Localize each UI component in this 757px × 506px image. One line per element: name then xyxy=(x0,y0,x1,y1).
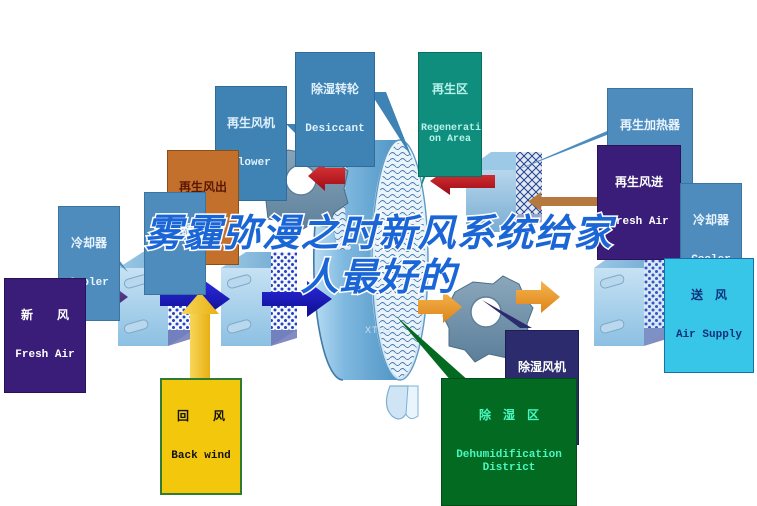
label-regeneration-area-cn: 再生区 xyxy=(421,83,479,96)
label-dehumidification-district-en: Dehumidification District xyxy=(444,449,574,474)
label-cooler-mid: 冷却器 xyxy=(144,192,206,295)
label-regen-fresh-air-in-en: Fresh Air xyxy=(600,216,678,228)
watermark-text: XTHJ xyxy=(365,325,392,335)
label-back-wind-cn: 回 风 xyxy=(164,410,238,423)
label-cooler-mid-cn: 冷却器 xyxy=(147,223,203,236)
label-regen-fresh-air-in: 再生风进 Fresh Air xyxy=(597,145,681,260)
label-regen-fresh-air-in-cn: 再生风进 xyxy=(600,176,678,189)
label-desiccant-rotor: 除湿转轮 Desiccant xyxy=(295,52,375,167)
label-regeneration-blower-cn: 再生风机 xyxy=(218,117,284,130)
label-back-wind: 回 风 Back wind xyxy=(160,378,242,495)
cooler-unit-right xyxy=(594,250,670,346)
label-dehumidify-blower-cn: 除湿风机 xyxy=(508,361,576,374)
label-regeneration-area-en: Regenerati on Area xyxy=(421,123,479,145)
label-regeneration-heater-cn: 再生加热器 xyxy=(610,119,690,132)
label-fresh-air-in-en: Fresh Air xyxy=(7,349,83,361)
label-cooler-left-cn: 冷却器 xyxy=(61,237,117,250)
label-cooler-right-cn: 冷却器 xyxy=(683,214,739,227)
label-fresh-air-in-cn: 新 风 xyxy=(7,309,83,322)
label-fresh-air-in: 新 风 Fresh Air xyxy=(4,278,86,393)
dehumidifier-airflow-diagram: XTHJ 除湿转轮 Desiccant 再生风机 Blower 再生区 Rege… xyxy=(0,0,757,488)
label-air-supply: 送 风 Air Supply xyxy=(664,258,754,373)
label-air-supply-cn: 送 风 xyxy=(667,289,751,302)
label-dehumidification-district-cn: 除 湿 区 xyxy=(444,409,574,422)
label-air-supply-en: Air Supply xyxy=(667,329,751,341)
label-back-wind-en: Back wind xyxy=(164,450,238,462)
label-regeneration-area: 再生区 Regenerati on Area xyxy=(418,52,482,177)
label-desiccant-rotor-en: Desiccant xyxy=(298,123,372,135)
label-dehumidification-district: 除 湿 区 Dehumidification District xyxy=(441,378,577,506)
label-desiccant-rotor-cn: 除湿转轮 xyxy=(298,83,372,96)
